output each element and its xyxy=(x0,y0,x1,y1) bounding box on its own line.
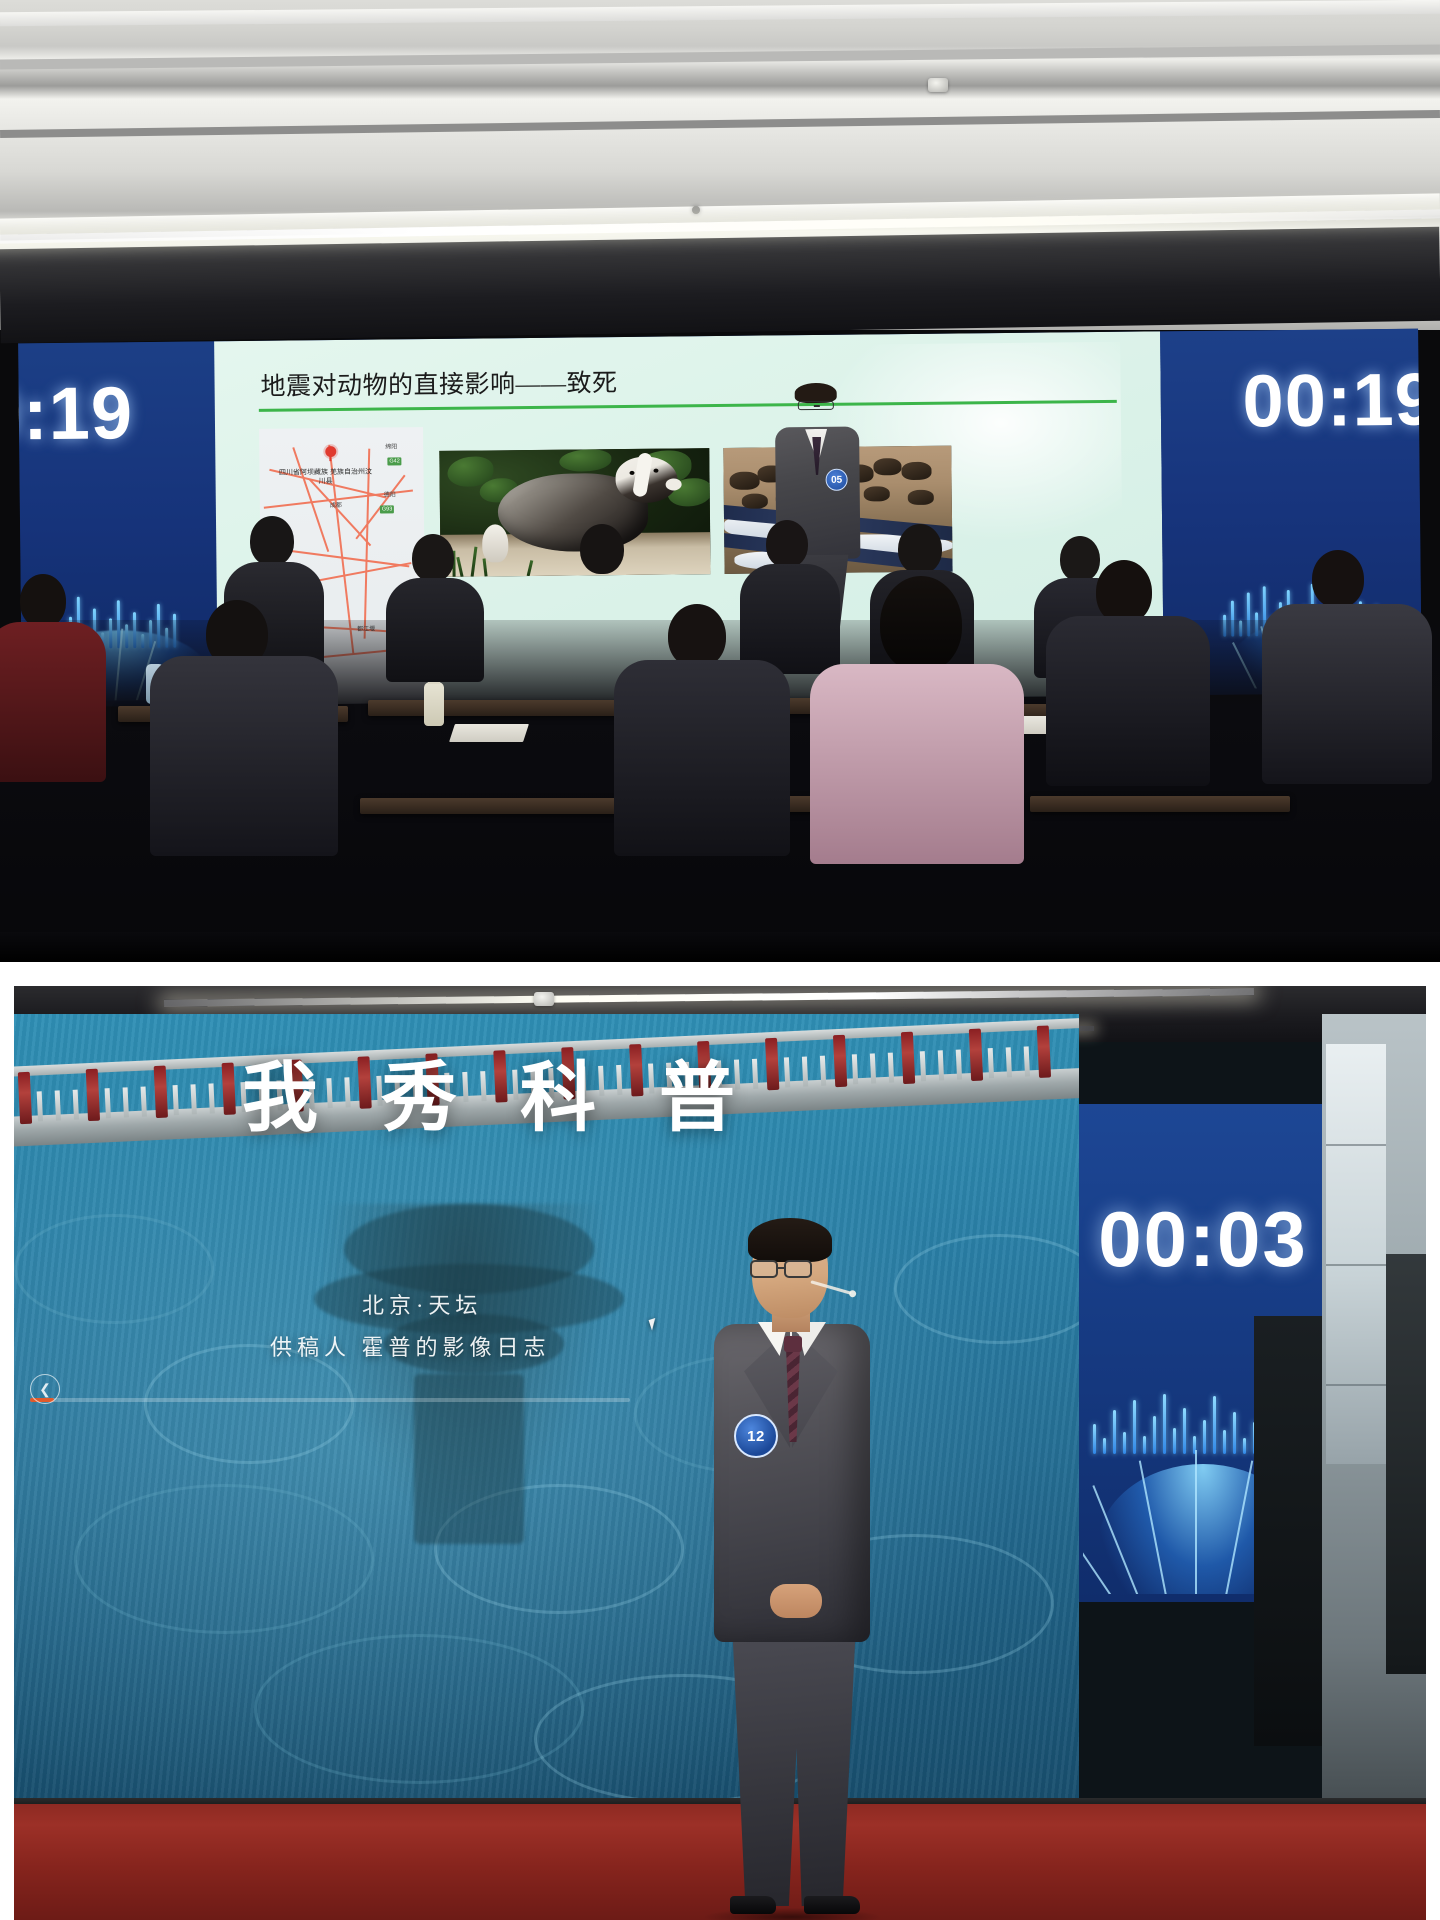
audience-body xyxy=(0,622,106,782)
chevron-left-icon[interactable]: ❮ xyxy=(30,1374,60,1404)
ceiling xyxy=(0,0,1440,330)
top-panel-photo: 0:19 xyxy=(0,0,1440,962)
paper-sheet xyxy=(449,724,529,742)
audience-body xyxy=(810,664,1024,864)
photo-composition: 0:19 xyxy=(0,0,1440,1920)
glasses-icon xyxy=(784,1260,812,1278)
stage-right-dark-area xyxy=(1254,1316,1326,1746)
ceiling-sensor-icon xyxy=(692,206,700,214)
contestant-badge: 05 xyxy=(825,469,847,491)
contestant-badge: 12 xyxy=(734,1414,778,1458)
presenter-bottom: 12 xyxy=(700,1224,884,1914)
audience-head xyxy=(898,524,942,574)
panel-divider xyxy=(0,962,1440,986)
audience-head xyxy=(20,574,66,628)
audience-body xyxy=(1262,604,1432,784)
screen-caption-location: 北京·天坛 xyxy=(362,1288,482,1320)
audience-head xyxy=(1312,550,1364,608)
ceiling-band xyxy=(0,0,1440,26)
ceiling-vent-icon xyxy=(534,992,554,1006)
audience-head xyxy=(880,576,962,672)
countdown-timer: 00:03 xyxy=(1083,1194,1322,1285)
ceiling-band xyxy=(0,110,1440,138)
map-city-label: 成都 xyxy=(330,500,342,509)
map-region-label: 四川省阿坝藏族 羌族自治州汶川县 xyxy=(277,468,373,488)
audience-body xyxy=(150,656,338,856)
glasses-icon xyxy=(750,1260,778,1278)
audience-head xyxy=(668,604,726,668)
map-city-label: 绵阳 xyxy=(385,441,397,450)
map-pin-icon xyxy=(325,446,336,457)
side-wall xyxy=(1322,1014,1426,1920)
map-road-tag: G93 xyxy=(380,505,394,513)
slide-title: 地震对动物的直接影响——致死 xyxy=(260,363,617,403)
timer-right: 00:19 xyxy=(1242,356,1422,443)
video-progress-bar[interactable] xyxy=(30,1398,630,1402)
desk xyxy=(368,700,628,716)
audience-head xyxy=(580,524,624,574)
audience-body xyxy=(614,660,790,856)
desk xyxy=(1030,796,1290,812)
screen-title: 我 秀 科 普 xyxy=(242,1036,757,1146)
map-road-tag: G42 xyxy=(387,457,401,465)
audience-body xyxy=(740,564,840,674)
audience-area xyxy=(0,620,1440,962)
wall-dark-panel xyxy=(1386,1254,1426,1674)
audience-head xyxy=(1060,536,1100,582)
screen-caption-credit: 供稿人 霍普的影像日志 xyxy=(270,1330,551,1362)
audience-head xyxy=(250,516,294,566)
audience-head xyxy=(766,520,808,568)
bottom-panel-photo: 我 秀 科 普 00:03 xyxy=(14,986,1426,1920)
timer-left: 0:19 xyxy=(18,370,133,457)
window xyxy=(1326,1044,1386,1464)
stage-front-edge xyxy=(0,932,1440,962)
thermos-bottle xyxy=(424,682,444,726)
audience-head xyxy=(412,534,454,582)
main-led-screen: 我 秀 科 普 xyxy=(14,1014,1079,1804)
ceiling-band xyxy=(0,44,1440,69)
ceiling-recess xyxy=(0,227,1440,344)
asian-badger-photo xyxy=(439,448,710,577)
audience-body xyxy=(1046,616,1210,786)
glasses-icon xyxy=(798,401,834,410)
audience-body xyxy=(386,578,484,682)
map-city-label: 德阳 xyxy=(384,489,396,498)
ceiling-vent-icon xyxy=(928,78,948,92)
audience-head xyxy=(1096,560,1152,624)
